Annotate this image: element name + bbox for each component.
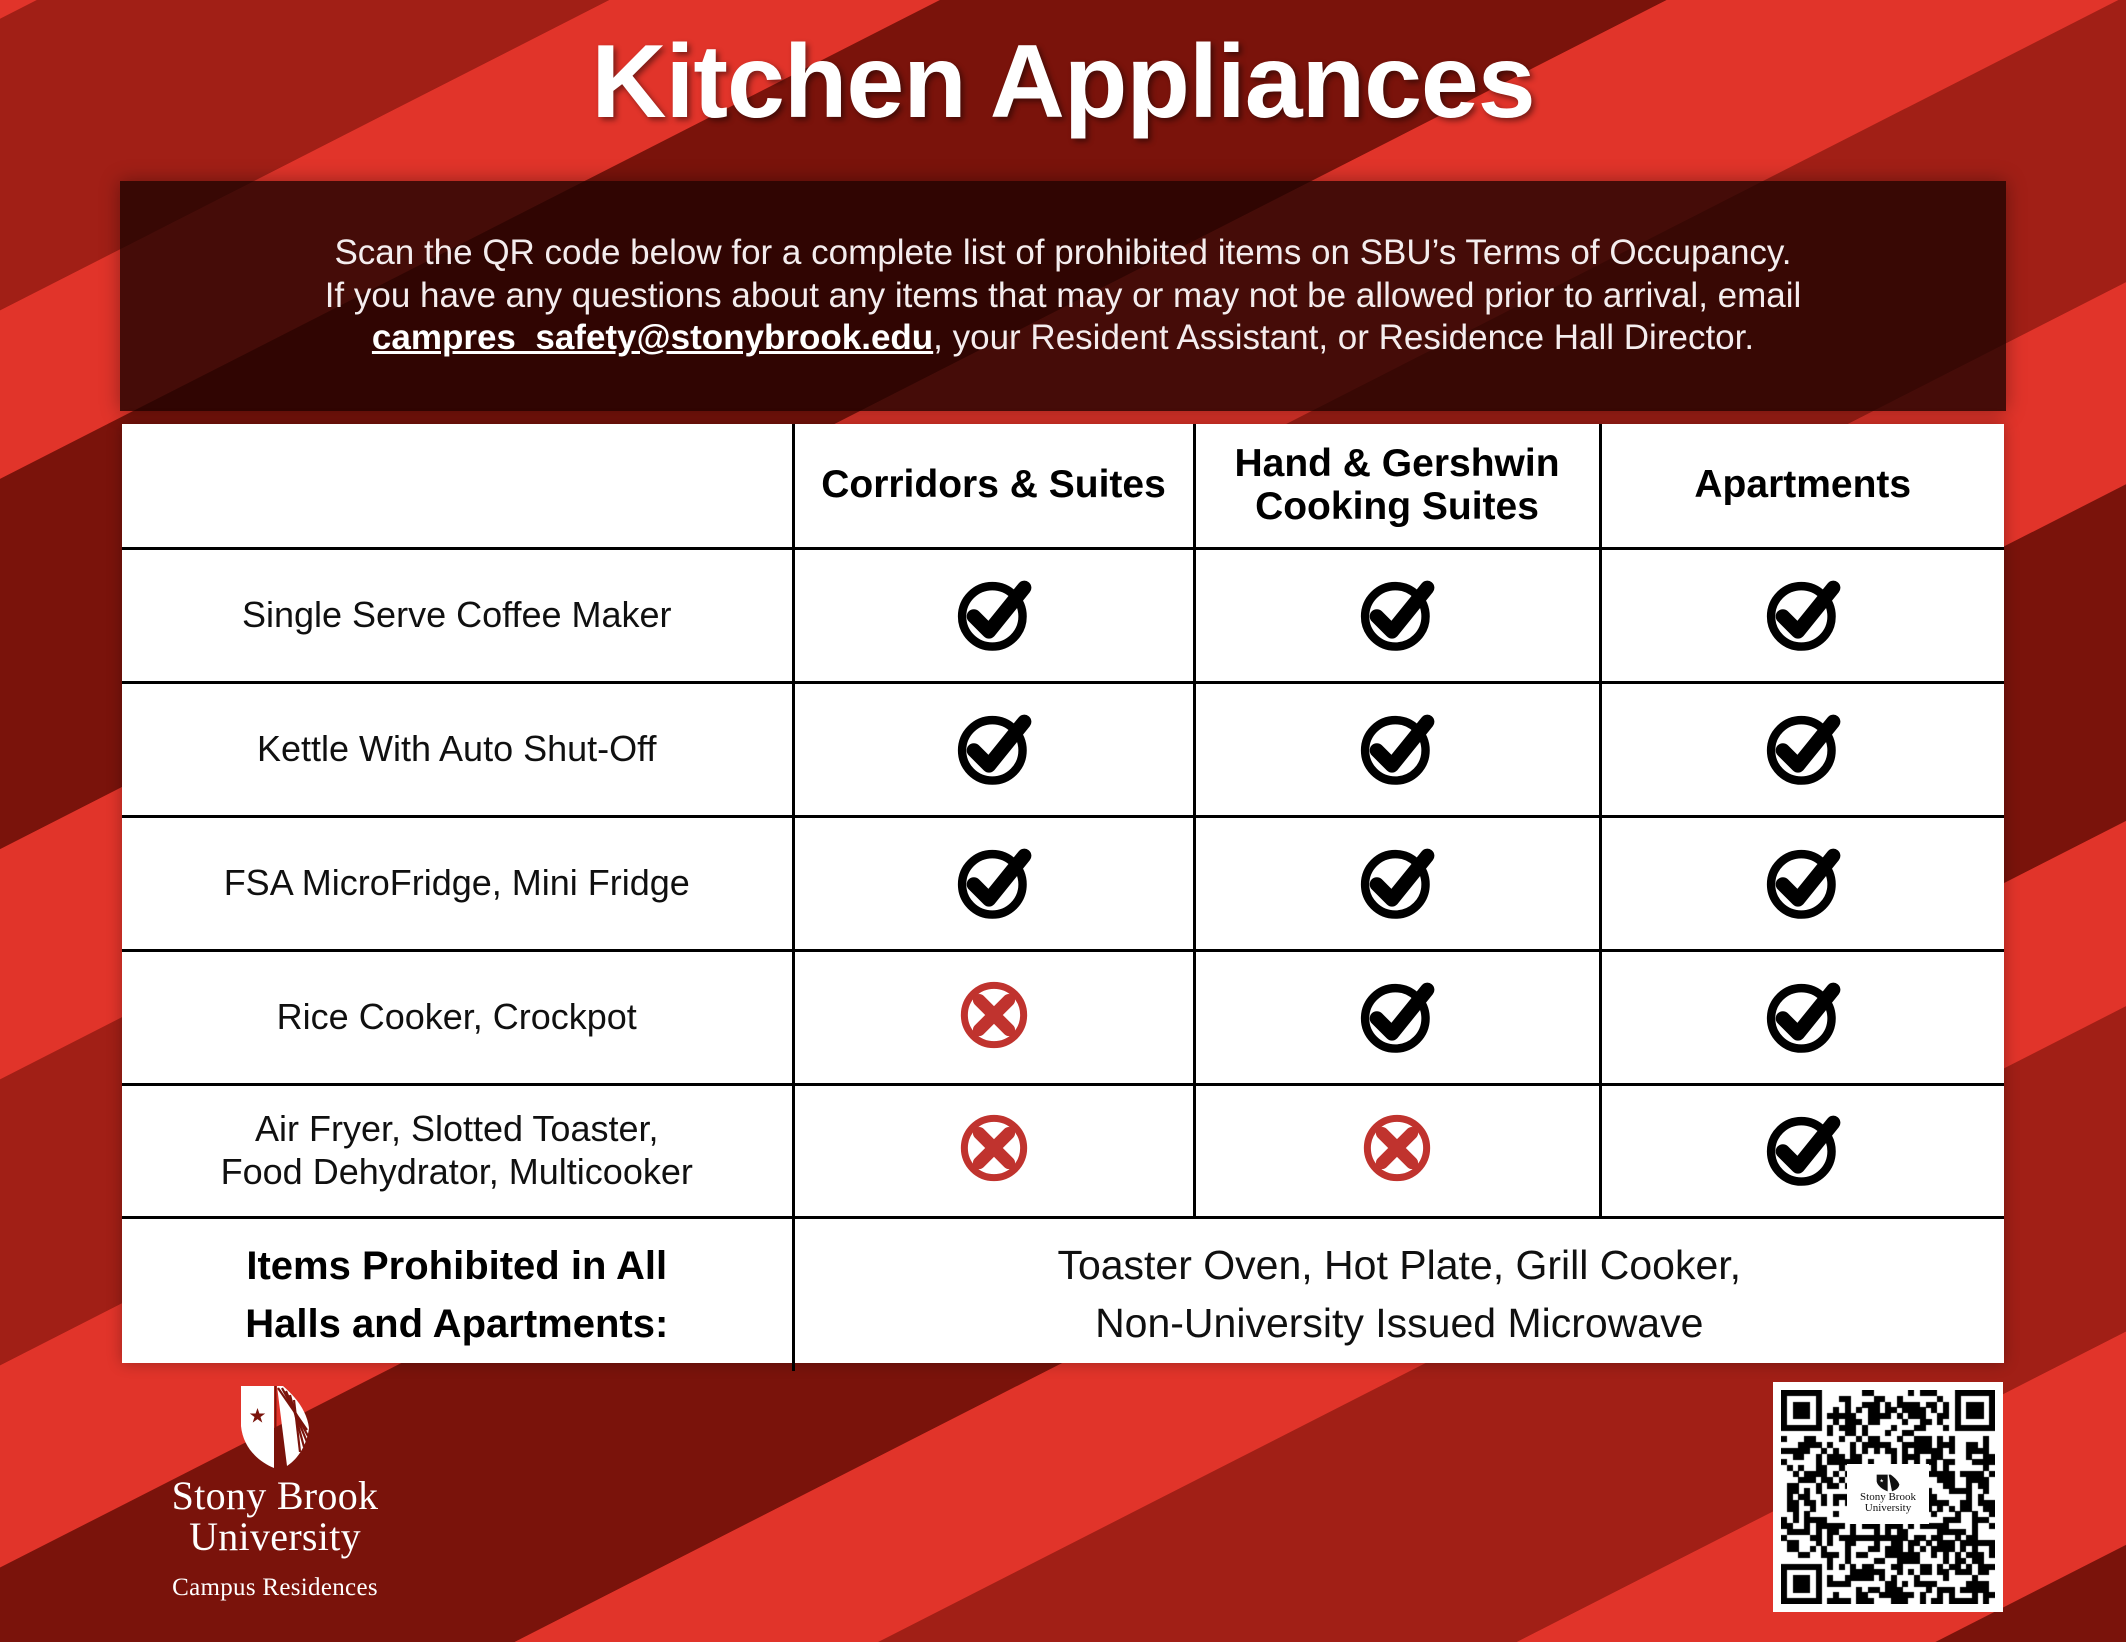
notice-line-3-rest: , your Resident Assistant, or Residence … bbox=[933, 318, 1754, 357]
cell-kettle-apartments bbox=[1600, 682, 2004, 816]
prohibited-items-label: Items Prohibited in All Halls and Apartm… bbox=[122, 1217, 793, 1371]
check-circle-icon bbox=[952, 705, 1036, 789]
logo-subtitle: Campus Residences bbox=[110, 1574, 440, 1602]
row-label-coffee-maker: Single Serve Coffee Maker bbox=[122, 548, 793, 682]
cell-kettle-hand-gershwin bbox=[1194, 682, 1600, 816]
notice-line-3: campres_safety@stonybrook.edu, your Resi… bbox=[346, 317, 1780, 360]
qr-center-text-line2: University bbox=[1865, 1503, 1911, 1514]
check-circle-icon bbox=[1761, 571, 1845, 655]
header-blank bbox=[122, 424, 793, 548]
x-circle-icon bbox=[955, 976, 1033, 1054]
cell-kettle-corridors bbox=[793, 682, 1194, 816]
row-label-rice-cooker: Rice Cooker, Crockpot bbox=[122, 950, 793, 1084]
appliance-policy-table: Corridors & Suites Hand & Gershwin Cooki… bbox=[122, 424, 2004, 1363]
table-row: FSA MicroFridge, Mini Fridge bbox=[122, 816, 2004, 950]
header-hand-gershwin-line2: Cooking Suites bbox=[1202, 485, 1593, 529]
notice-line-2: If you have any questions about any item… bbox=[299, 275, 1828, 318]
header-corridors-suites: Corridors & Suites bbox=[793, 424, 1194, 548]
prohibited-items-value-line1: Toaster Oven, Hot Plate, Grill Cooker, bbox=[807, 1237, 1993, 1294]
cell-microfridge-corridors bbox=[793, 816, 1194, 950]
table-row: Rice Cooker, Crockpot bbox=[122, 950, 2004, 1084]
cell-rice-cooker-apartments bbox=[1600, 950, 2004, 1084]
table-row: Kettle With Auto Shut-Off bbox=[122, 682, 2004, 816]
qr-code[interactable]: Stony Brook University bbox=[1773, 1382, 2003, 1612]
x-circle-icon bbox=[1358, 1109, 1436, 1187]
shield-icon-small bbox=[1875, 1474, 1901, 1492]
row-label-microfridge: FSA MicroFridge, Mini Fridge bbox=[122, 816, 793, 950]
prohibited-items-row: Items Prohibited in All Halls and Apartm… bbox=[122, 1217, 2004, 1371]
check-circle-icon bbox=[1355, 705, 1439, 789]
cell-microfridge-hand-gershwin bbox=[1194, 816, 1600, 950]
check-circle-icon bbox=[1761, 839, 1845, 923]
check-circle-icon bbox=[1761, 1106, 1845, 1190]
cell-coffee-maker-hand-gershwin bbox=[1194, 548, 1600, 682]
notice-box: Scan the QR code below for a complete li… bbox=[120, 181, 2006, 411]
shield-icon bbox=[237, 1382, 313, 1472]
notice-line-1: Scan the QR code below for a complete li… bbox=[308, 232, 1817, 275]
check-circle-icon bbox=[952, 839, 1036, 923]
cell-microfridge-apartments bbox=[1600, 816, 2004, 950]
header-apartments: Apartments bbox=[1600, 424, 2004, 548]
table-row: Air Fryer, Slotted Toaster, Food Dehydra… bbox=[122, 1084, 2004, 1217]
check-circle-icon bbox=[1355, 973, 1439, 1057]
stony-brook-logo: Stony Brook University Campus Residences bbox=[110, 1382, 440, 1602]
prohibited-items-label-line2: Halls and Apartments: bbox=[134, 1295, 780, 1353]
table-row: Single Serve Coffee Maker bbox=[122, 548, 2004, 682]
row-label-kettle: Kettle With Auto Shut-Off bbox=[122, 682, 793, 816]
logo-name-line2: University bbox=[110, 1517, 440, 1558]
row-label-air-fryer-line2: Food Dehydrator, Multicooker bbox=[136, 1151, 778, 1193]
cell-coffee-maker-corridors bbox=[793, 548, 1194, 682]
check-circle-icon bbox=[952, 571, 1036, 655]
prohibited-items-label-line1: Items Prohibited in All bbox=[134, 1237, 780, 1295]
contact-email-link[interactable]: campres_safety@stonybrook.edu bbox=[372, 318, 933, 357]
logo-name-line1: Stony Brook bbox=[110, 1476, 440, 1517]
x-circle-icon bbox=[955, 1109, 1033, 1187]
cell-air-fryer-apartments bbox=[1600, 1084, 2004, 1217]
header-hand-gershwin-line1: Hand & Gershwin bbox=[1202, 442, 1593, 486]
table-header-row: Corridors & Suites Hand & Gershwin Cooki… bbox=[122, 424, 2004, 548]
qr-code-center-logo: Stony Brook University bbox=[1847, 1464, 1929, 1524]
prohibited-items-value-line2: Non-University Issued Microwave bbox=[807, 1295, 1993, 1352]
cell-coffee-maker-apartments bbox=[1600, 548, 2004, 682]
check-circle-icon bbox=[1355, 839, 1439, 923]
row-label-air-fryer-line1: Air Fryer, Slotted Toaster, bbox=[136, 1108, 778, 1150]
header-hand-gershwin: Hand & Gershwin Cooking Suites bbox=[1194, 424, 1600, 548]
cell-air-fryer-hand-gershwin bbox=[1194, 1084, 1600, 1217]
prohibited-items-value: Toaster Oven, Hot Plate, Grill Cooker, N… bbox=[793, 1217, 2004, 1371]
cell-rice-cooker-hand-gershwin bbox=[1194, 950, 1600, 1084]
check-circle-icon bbox=[1355, 571, 1439, 655]
check-circle-icon bbox=[1761, 973, 1845, 1057]
check-circle-icon bbox=[1761, 705, 1845, 789]
page-title: Kitchen Appliances bbox=[0, 20, 2126, 145]
cell-air-fryer-corridors bbox=[793, 1084, 1194, 1217]
cell-rice-cooker-corridors bbox=[793, 950, 1194, 1084]
row-label-air-fryer: Air Fryer, Slotted Toaster, Food Dehydra… bbox=[122, 1084, 793, 1217]
